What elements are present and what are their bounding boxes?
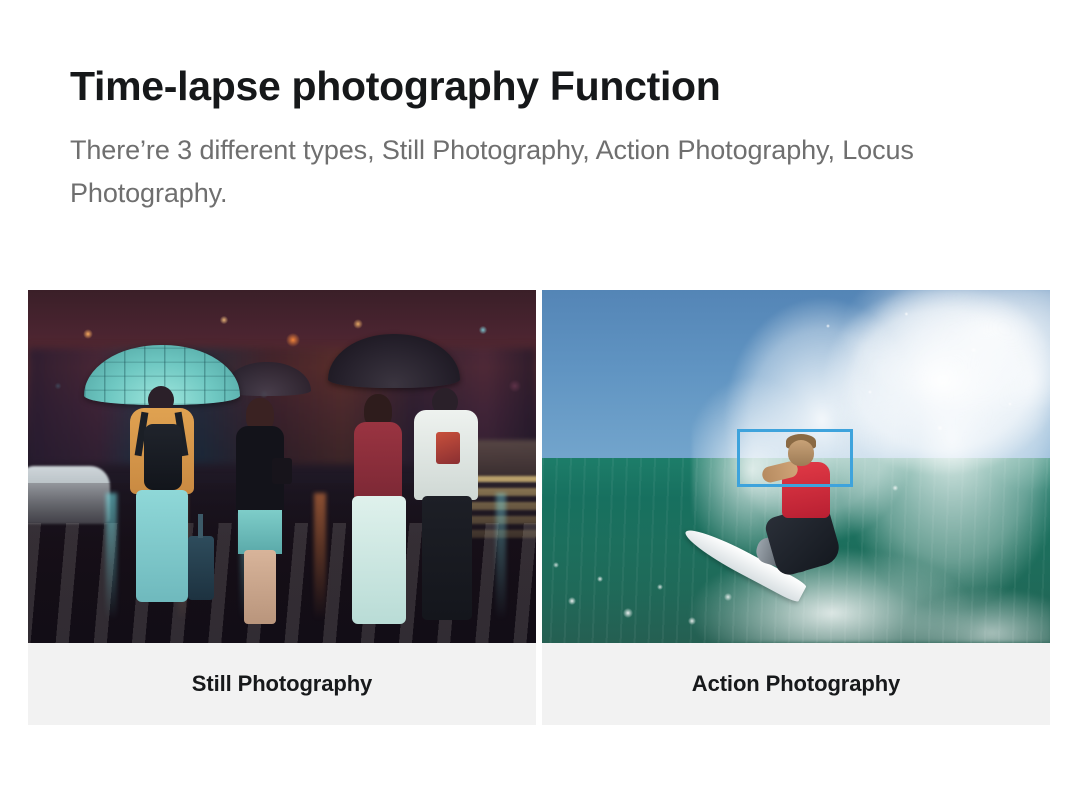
- surfer-wave-photo: [542, 290, 1050, 643]
- photography-type-cards: Still Photography: [28, 290, 1050, 725]
- pedestrian-black-top: [228, 398, 294, 624]
- slide-page: Time-lapse photography Function There’re…: [0, 0, 1080, 792]
- backpack: [144, 424, 182, 490]
- page-subtitle: There’re 3 different types, Still Photog…: [70, 129, 940, 214]
- card-still-photography[interactable]: Still Photography: [28, 290, 536, 725]
- shirt-graphic: [436, 432, 460, 464]
- rainy-night-street-photo: [28, 290, 536, 643]
- page-title: Time-lapse photography Function: [70, 62, 1000, 110]
- header: Time-lapse photography Function There’re…: [70, 62, 1000, 215]
- subject-detection-box: [737, 429, 853, 487]
- card-caption-still-photography: Still Photography: [28, 643, 536, 725]
- card-action-photography[interactable]: Action Photography: [542, 290, 1050, 725]
- pedestrian-skirt: [238, 510, 282, 554]
- pedestrian-legs: [136, 490, 188, 602]
- rolling-suitcase: [188, 536, 214, 600]
- pedestrian-legs: [244, 550, 276, 624]
- pedestrian-white-tee: [410, 388, 482, 620]
- pedestrian-torso: [354, 422, 402, 500]
- handbag: [272, 458, 292, 484]
- card-caption-action-photography: Action Photography: [542, 643, 1050, 725]
- surf-scene-backdrop: [542, 290, 1050, 643]
- pedestrian-red-top: [346, 394, 412, 624]
- pedestrian-legs: [352, 496, 406, 624]
- foam-bubbles: [542, 517, 772, 637]
- pedestrian-legs: [422, 496, 472, 620]
